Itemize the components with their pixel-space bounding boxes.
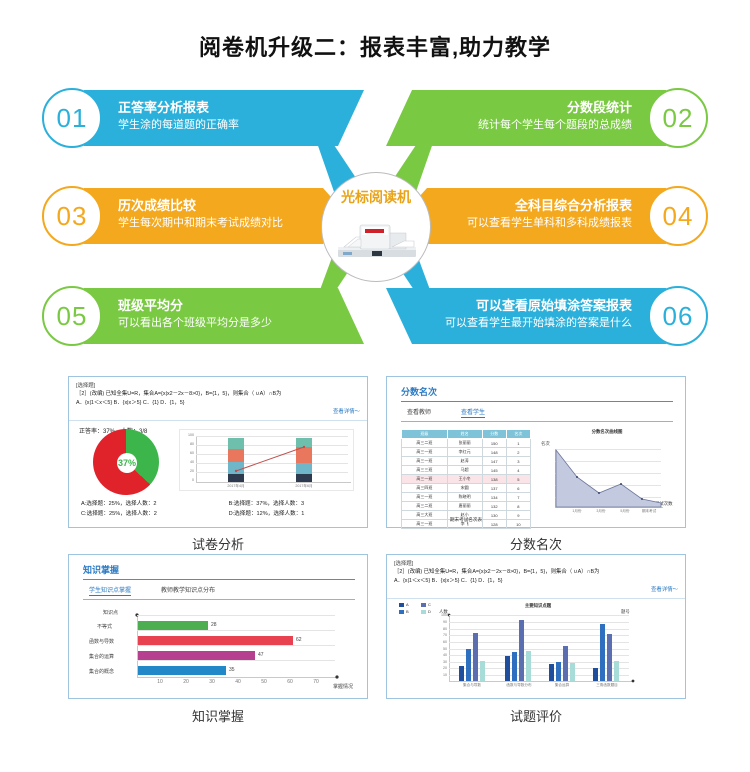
- omr-scanner-machine-icon: [334, 217, 420, 263]
- option-stat: B:选择题：37%，选择人数：3: [217, 499, 363, 509]
- screenshot-gallery: [选择题] ［2］(改编) 已知全集U=R，集合A={x|x2－2x－8>0}，…: [0, 368, 750, 772]
- question-eval-chart: A C B D 主要知识点题 人数 题号 100 90: [393, 601, 683, 697]
- legend-swatch-a: [399, 603, 404, 607]
- knowledge-bar-chart: 知识点 掌握情况 不等式 28 函数与导数 62 集合的运算 47 集合的概念 …: [83, 605, 355, 697]
- center-label: 光标阅读机: [322, 187, 430, 207]
- table-cell: 148: [482, 448, 506, 457]
- legend-label-a: A: [406, 602, 409, 607]
- question-options: A．{x|1＜x＜5} B．{x|x＞5} C．{1} D．{1，5}: [76, 399, 360, 408]
- feature-diagram: 正答率分析报表 学生涂的每道题的正确率 01 分数段统计 统计每个学生每个题段的…: [0, 82, 750, 364]
- table-header-row: 班级 姓名 分数 名次: [402, 430, 531, 439]
- panel-exam-analysis[interactable]: [选择题] ［2］(改编) 已知全集U=R，集合A={x|x2－2x－8>0}，…: [68, 376, 368, 528]
- col-class: 班级: [402, 430, 448, 439]
- rank-curve-chart: 分数名次曲线图 名次 考试次数 1月份 3月份 5月份 期末考试: [539, 429, 675, 521]
- table-cell: 132: [482, 502, 506, 511]
- tab-student-knowledge[interactable]: 学生知识点掌握: [89, 585, 131, 594]
- caption-exam-analysis: 试卷分析: [68, 534, 368, 553]
- legend-swatch-b: [399, 610, 404, 614]
- rank-table: 班级 姓名 分数 名次 高三二班张丽丽1501高三一班李红元1482高三一班赵涛…: [401, 429, 531, 529]
- table-cell: 赵涛: [447, 457, 482, 466]
- option-stats-list: A:选择题：25%，选择人数：2 B:选择题：37%，选择人数：3 C:选择题：…: [69, 499, 367, 519]
- table-cell: 高三二班: [402, 502, 448, 511]
- center-node: 光标阅读机: [321, 172, 431, 282]
- bar-category-label: 函数与导数: [89, 638, 114, 645]
- legend-label-b: B: [406, 609, 409, 614]
- question-tag: [选择题]: [76, 382, 360, 390]
- panel-score-rank[interactable]: 分数名次 查看教师 查看学生 班级 姓名 分数 名次 高三二班张丽丽1501高三…: [386, 376, 686, 528]
- col-score: 分数: [482, 430, 506, 439]
- table-cell: 高三二班: [402, 439, 448, 448]
- table-cell: 陈晓明: [447, 493, 482, 502]
- table-cell: 高三一班: [402, 475, 448, 484]
- panel-title: 分数名次: [401, 385, 437, 398]
- view-detail-link[interactable]: 查看详情～: [394, 586, 678, 595]
- trend-line: [180, 430, 355, 492]
- tab-teacher-knowledge[interactable]: 教师教学知识点分布: [161, 585, 215, 594]
- table-cell: 150: [482, 439, 506, 448]
- caption-question-eval: 试题评价: [386, 706, 686, 725]
- table-cell: 145: [482, 466, 506, 475]
- table-row[interactable]: 高三二班唐丽丽1328: [402, 502, 531, 511]
- y-axis-name: 知识点: [103, 609, 118, 616]
- legend-label-c: C: [428, 602, 431, 607]
- table-cell: 8: [506, 502, 530, 511]
- tab-label: 教师教学知识点分布: [161, 588, 215, 594]
- question-block: [选择题] ［2］(改编) 已知全集U=R，集合A={x|x2－2x－8>0}，…: [69, 377, 367, 421]
- bar-category-label: 集合的概念: [89, 668, 114, 675]
- tab-view-student[interactable]: 查看学生: [461, 407, 485, 416]
- bar-category-label: 不等式: [97, 623, 112, 630]
- table-cell: 137: [482, 484, 506, 493]
- col-rank: 名次: [506, 430, 530, 439]
- bar-set-concept: [138, 666, 226, 675]
- tab-label: 查看学生: [461, 410, 485, 418]
- x-axis-name: 掌握情况: [333, 683, 353, 690]
- bar-value: 62: [296, 637, 302, 643]
- table-cell: 147: [482, 457, 506, 466]
- table-caption: 期末考试名次表: [401, 517, 531, 523]
- table-cell: 6: [506, 484, 530, 493]
- table-cell: 马超: [447, 466, 482, 475]
- table-cell: 高三一班: [402, 493, 448, 502]
- bar-inequality: [138, 621, 208, 630]
- bar-function-derivative: [138, 636, 293, 645]
- donut-value: 37%: [118, 458, 136, 468]
- area-series: [539, 429, 675, 521]
- option-stat: D:选择题：12%，选择人数：1: [217, 509, 363, 519]
- tab-label: 查看教师: [407, 410, 431, 416]
- legend-swatch-c: [421, 603, 426, 607]
- caption-score-rank: 分数名次: [386, 534, 686, 553]
- legend-swatch-d: [421, 610, 426, 614]
- table-row[interactable]: 高三二班张丽丽1501: [402, 439, 531, 448]
- table-cell: 7: [506, 493, 530, 502]
- question-tag: [选择题]: [394, 560, 678, 568]
- bar-value: 28: [211, 622, 217, 628]
- table-cell: 张丽丽: [447, 439, 482, 448]
- table-cell: 138: [482, 475, 506, 484]
- table-cell: 李红元: [447, 448, 482, 457]
- table-row[interactable]: 高三一班陈晓明1347: [402, 493, 531, 502]
- caption-knowledge: 知识掌握: [68, 706, 368, 725]
- table-row[interactable]: 高三一班赵涛1473: [402, 457, 531, 466]
- table-cell: 3: [506, 457, 530, 466]
- tab-view-teacher[interactable]: 查看教师: [407, 407, 431, 416]
- bar-value: 47: [258, 652, 264, 658]
- table-cell: 唐丽丽: [447, 502, 482, 511]
- table-cell: 高三三班: [402, 466, 448, 475]
- option-stat: A:选择题：25%，选择人数：2: [69, 499, 215, 509]
- table-cell: 高三一班: [402, 448, 448, 457]
- question-text: ［2］(改编) 已知全集U=R，集合A={x|x2－2x－8>0}，B={1，5…: [394, 568, 678, 577]
- table-cell: 4: [506, 466, 530, 475]
- bar-set-operation: [138, 651, 255, 660]
- page-title: 阅卷机升级二：报表丰富,助力教学: [0, 30, 750, 62]
- score-compare-chart: 100 80 60 40 20 0 2017年4月 2017年6月: [179, 429, 354, 491]
- table-row[interactable]: 高三四班宋圆1376: [402, 484, 531, 493]
- col-name: 姓名: [447, 430, 482, 439]
- panel-knowledge[interactable]: 知识掌握 学生知识点掌握 教师教学知识点分布 知识点 掌握情况 不等式 28 函…: [68, 554, 368, 699]
- table-cell: 134: [482, 493, 506, 502]
- question-options: A．{x|1＜x＜5} B．{x|x＞5} C．{1} D．{1，5}: [394, 577, 678, 586]
- question-block: [选择题] ［2］(改编) 已知全集U=R，集合A={x|x2－2x－8>0}，…: [387, 555, 685, 599]
- view-detail-link[interactable]: 查看详情～: [76, 408, 360, 417]
- option-stat: C:选择题：25%，选择人数：2: [69, 509, 215, 519]
- table-cell: 2: [506, 448, 530, 457]
- table-cell: 高三一班: [402, 457, 448, 466]
- bar-category-label: 集合的运算: [89, 653, 114, 660]
- table-row[interactable]: 高三一班王小冬1385: [402, 475, 531, 484]
- panel-title: 知识掌握: [83, 563, 119, 576]
- donut-center-label: 37%: [117, 453, 137, 473]
- table-cell: 5: [506, 475, 530, 484]
- table-cell: 1: [506, 439, 530, 448]
- legend-label-d: D: [428, 609, 431, 614]
- tab-label: 学生知识点掌握: [89, 588, 131, 596]
- table-cell: 宋圆: [447, 484, 482, 493]
- table-row[interactable]: 高三三班马超1454: [402, 466, 531, 475]
- table-cell: 高三四班: [402, 484, 448, 493]
- table-row[interactable]: 高三一班李红元1482: [402, 448, 531, 457]
- table-cell: 王小冬: [447, 475, 482, 484]
- question-text: ［2］(改编) 已知全集U=R，集合A={x|x2－2x－8>0}，B={1，5…: [76, 390, 360, 399]
- panel-question-eval[interactable]: [选择题] ［2］(改编) 已知全集U=R，集合A={x|x2－2x－8>0}，…: [386, 554, 686, 699]
- bar-value: 35: [229, 667, 235, 673]
